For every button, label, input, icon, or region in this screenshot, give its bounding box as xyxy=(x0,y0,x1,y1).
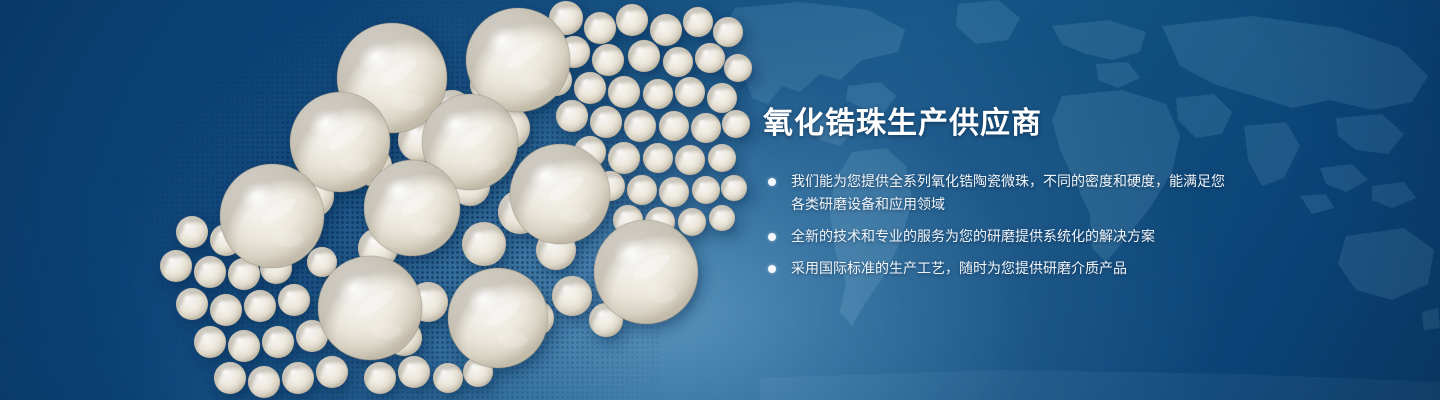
list-item: 采用国际标准的生产工艺，随时为您提供研磨介质产品 xyxy=(763,257,1233,280)
banner-copy: 氧化锆珠生产供应商 我们能为您提供全系列氧化锆陶瓷微珠，不同的密度和硬度，能满足… xyxy=(763,104,1233,280)
hero-banner: 氧化锆珠生产供应商 我们能为您提供全系列氧化锆陶瓷微珠，不同的密度和硬度，能满足… xyxy=(0,0,1440,400)
list-item: 我们能为您提供全系列氧化锆陶瓷微珠，不同的密度和硬度，能满足您各类研磨设备和应用… xyxy=(763,170,1233,216)
bullet-text: 全新的技术和专业的服务为您的研磨提供系统化的解决方案 xyxy=(791,225,1233,248)
bullet-dot-icon xyxy=(768,265,776,273)
bullet-text: 采用国际标准的生产工艺，随时为您提供研磨介质产品 xyxy=(791,257,1233,280)
bullet-dot-icon xyxy=(768,178,776,186)
bullet-text: 我们能为您提供全系列氧化锆陶瓷微珠，不同的密度和硬度，能满足您各类研磨设备和应用… xyxy=(791,170,1233,216)
bullet-dot-icon xyxy=(768,233,776,241)
feature-bullet-list: 我们能为您提供全系列氧化锆陶瓷微珠，不同的密度和硬度，能满足您各类研磨设备和应用… xyxy=(763,170,1233,280)
page-title: 氧化锆珠生产供应商 xyxy=(763,104,1233,144)
list-item: 全新的技术和专业的服务为您的研磨提供系统化的解决方案 xyxy=(763,225,1233,248)
